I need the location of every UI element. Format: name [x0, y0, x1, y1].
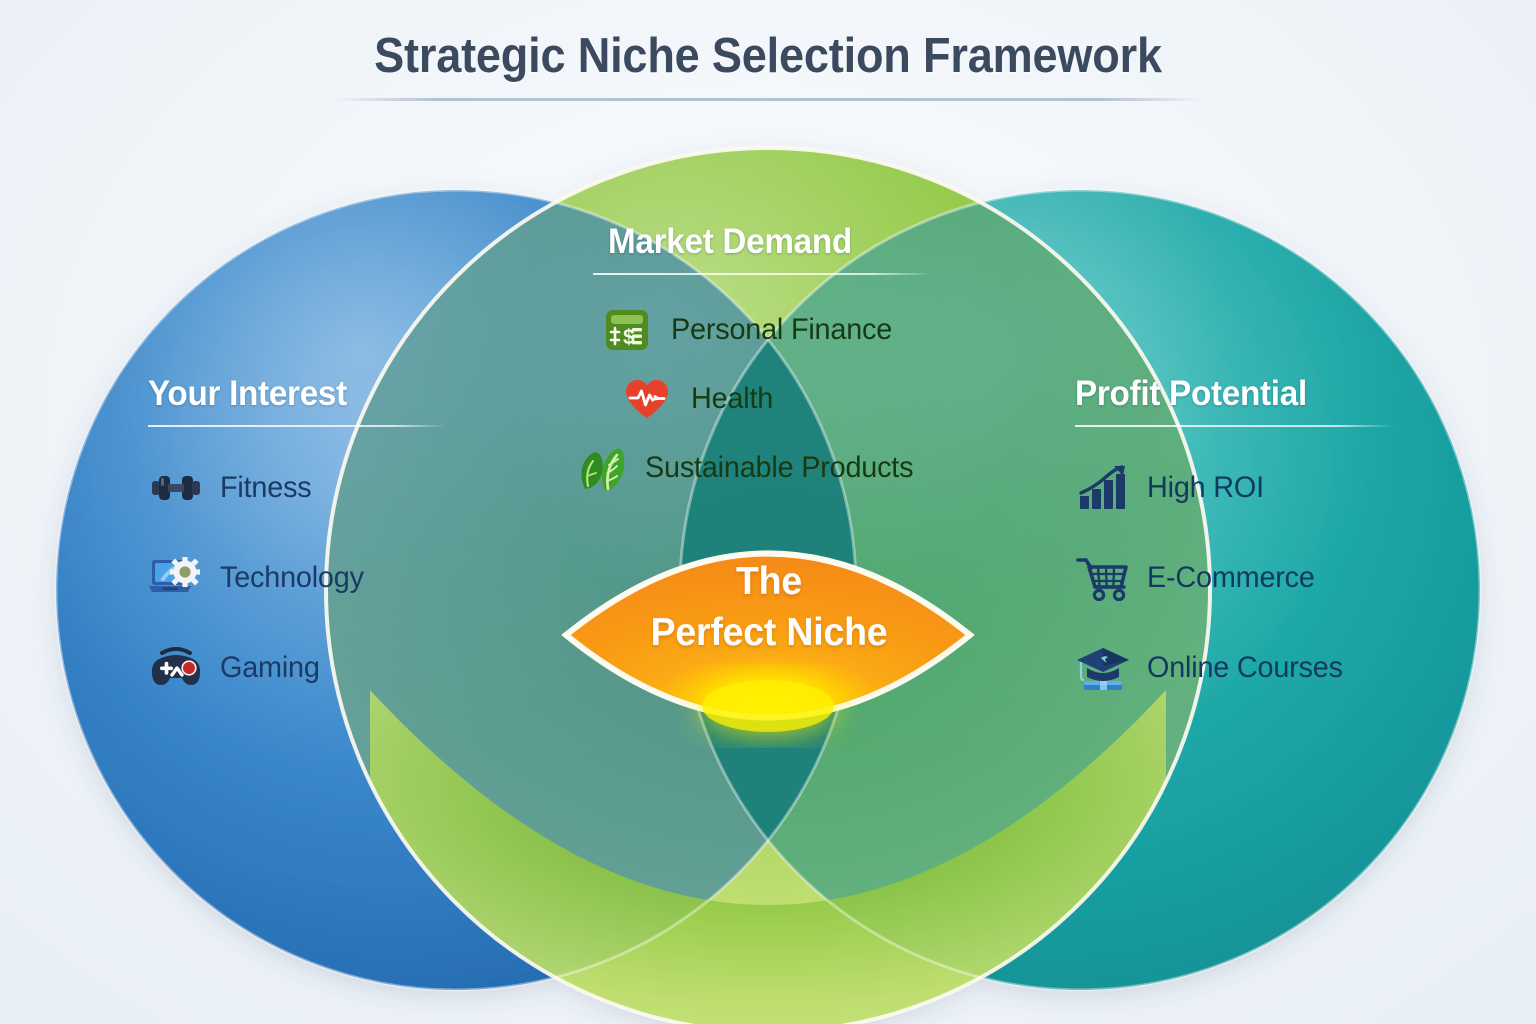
list-item-label: Health — [691, 382, 773, 416]
game-controller-icon — [148, 640, 204, 696]
list-item[interactable]: Fitness — [148, 457, 458, 519]
heading-your-interest: Your Interest — [148, 374, 443, 414]
list-item-label: High ROI — [1147, 471, 1264, 505]
panel-your-interest: Your Interest Fitnes — [148, 374, 458, 727]
heading-market-demand: Market Demand — [608, 222, 917, 262]
list-item-label: Personal Finance — [671, 313, 892, 347]
panel-market-demand: Market Demand $ — [573, 222, 933, 508]
item-list-market-demand: $ Personal Finance — [573, 301, 933, 497]
heading-divider-interest — [148, 425, 446, 427]
list-item-label: Sustainable Products — [645, 451, 913, 485]
calculator-dollar-icon: $ — [599, 302, 655, 358]
panel-profit-potential: Profit Potential High — [1075, 374, 1405, 727]
list-item[interactable]: Online Courses — [1075, 637, 1405, 699]
infographic-canvas: Strategic Niche Selection Framework — [0, 0, 1536, 1024]
leaf-icon — [573, 440, 629, 496]
heading-divider-demand — [593, 273, 933, 275]
bar-chart-arrow-icon — [1075, 460, 1131, 516]
heart-pulse-icon — [619, 371, 675, 427]
list-item-label: Gaming — [220, 651, 320, 685]
list-item[interactable]: E-Commerce — [1075, 547, 1405, 609]
list-item[interactable]: Gaming — [148, 637, 458, 699]
svg-text:$: $ — [623, 326, 635, 349]
center-lens-glow — [702, 680, 834, 732]
laptop-gear-icon — [148, 550, 204, 606]
item-list-your-interest: Fitness — [148, 457, 458, 699]
list-item[interactable]: $ Personal Finance — [573, 301, 933, 359]
heading-divider-profit — [1075, 425, 1393, 427]
list-item-label: Online Courses — [1147, 651, 1343, 685]
item-list-profit-potential: High ROI — [1075, 457, 1405, 699]
shopping-cart-icon — [1075, 550, 1131, 606]
list-item-label: Technology — [220, 561, 364, 595]
list-item[interactable]: Health — [573, 370, 933, 428]
list-item[interactable]: High ROI — [1075, 457, 1405, 519]
list-item[interactable]: Sustainable Products — [573, 439, 933, 497]
list-item-label: E-Commerce — [1147, 561, 1315, 595]
heading-profit-potential: Profit Potential — [1075, 374, 1389, 414]
list-item[interactable]: Technology — [148, 547, 458, 609]
dumbbell-icon — [148, 460, 204, 516]
list-item-label: Fitness — [220, 471, 311, 505]
graduation-cap-icon — [1075, 640, 1131, 696]
